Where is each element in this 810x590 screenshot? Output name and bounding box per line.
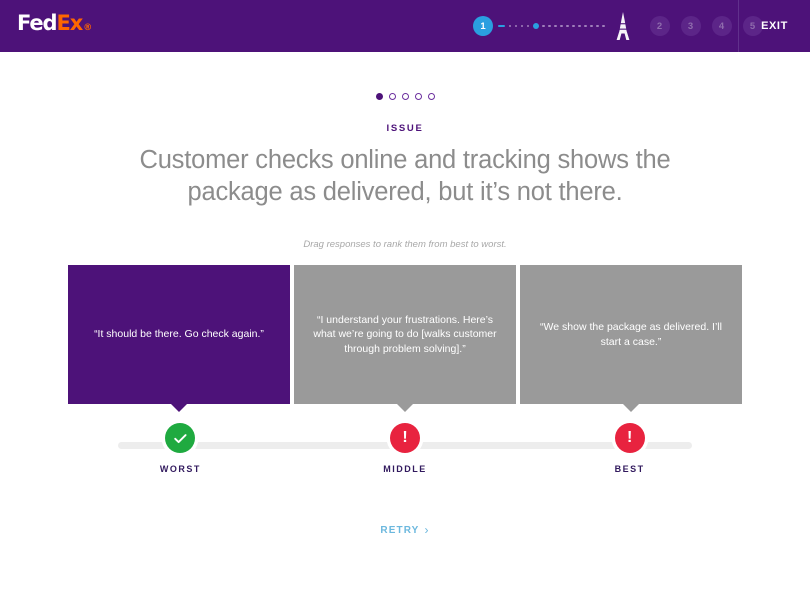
track-dot	[602, 25, 605, 28]
page-dot-5[interactable]	[428, 93, 435, 100]
rank-slot-best[interactable]: ! BEST	[517, 423, 742, 485]
response-cards: “It should be there. Go check again.” “I…	[0, 265, 810, 404]
logo-ex-text: Ex	[56, 11, 82, 35]
retry-button[interactable]: RETRY ›	[380, 523, 429, 537]
card-pointer-icon	[396, 403, 414, 412]
exit-button-label: EXIT	[761, 20, 788, 32]
section-label: ISSUE	[0, 123, 810, 134]
rank-badge-best[interactable]: !	[615, 423, 645, 453]
main-content: ISSUE Customer checks online and trackin…	[0, 93, 810, 590]
exclamation-icon: !	[627, 430, 632, 446]
retry-button-label: RETRY	[380, 525, 419, 536]
track-dot-current	[533, 23, 539, 29]
track-dot	[554, 25, 557, 28]
logo-fed-text: Fed	[17, 11, 56, 35]
step-number-2: 2	[657, 21, 662, 32]
rank-label-middle: MIDDLE	[383, 464, 427, 474]
exclamation-icon: !	[402, 430, 407, 446]
track-dot	[527, 25, 530, 28]
track-dot	[515, 25, 518, 28]
step-number-3: 3	[688, 21, 693, 32]
exit-button[interactable]: EXIT	[739, 0, 810, 52]
track-dot	[521, 25, 524, 28]
page-dot-4[interactable]	[415, 93, 422, 100]
tower-icon	[613, 11, 633, 41]
track-dot	[542, 25, 545, 28]
step-number-1: 1	[480, 21, 485, 32]
track-dot	[560, 25, 563, 28]
logo-registered-mark: ®	[83, 23, 92, 33]
step-indicator-4[interactable]: 4	[712, 16, 732, 36]
track-dot	[509, 25, 512, 28]
response-card-2-text: “I understand your frustrations. Here’s …	[310, 313, 500, 357]
page-dot-3[interactable]	[402, 93, 409, 100]
track-dot	[584, 25, 587, 28]
track-dot	[596, 25, 599, 28]
step-number-4: 4	[719, 21, 724, 32]
track-dot	[548, 25, 551, 28]
rank-label-best: BEST	[615, 464, 645, 474]
response-card-1[interactable]: “It should be there. Go check again.”	[68, 265, 290, 404]
chevron-right-icon: ›	[424, 523, 429, 537]
app-header: FedEx® 1	[0, 0, 810, 52]
track-dash	[498, 25, 505, 28]
step-connector-track	[498, 23, 605, 29]
ranking-track: WORST ! MIDDLE ! BEST	[68, 423, 742, 485]
retry-row: RETRY ›	[0, 523, 810, 537]
rank-badge-middle[interactable]: !	[390, 423, 420, 453]
rank-label-worst: WORST	[160, 464, 201, 474]
drag-instruction: Drag responses to rank them from best to…	[0, 239, 810, 250]
card-pointer-icon	[170, 403, 188, 412]
rank-slot-middle[interactable]: ! MIDDLE	[293, 423, 518, 485]
response-card-3-text: “We show the package as delivered. I’ll …	[536, 320, 726, 349]
page-dot-2[interactable]	[389, 93, 396, 100]
page-title: Customer checks online and tracking show…	[125, 144, 685, 208]
track-dot	[578, 25, 581, 28]
response-card-3[interactable]: “We show the package as delivered. I’ll …	[520, 265, 742, 404]
response-card-2[interactable]: “I understand your frustrations. Here’s …	[294, 265, 516, 404]
rank-badge-worst[interactable]	[165, 423, 195, 453]
track-dot	[590, 25, 593, 28]
response-card-1-text: “It should be there. Go check again.”	[94, 327, 264, 342]
step-indicator-1[interactable]: 1	[473, 16, 493, 36]
rank-slot-worst[interactable]: WORST	[68, 423, 293, 485]
step-indicator-3[interactable]: 3	[681, 16, 701, 36]
page-dot-1[interactable]	[376, 93, 383, 100]
card-pointer-icon	[622, 403, 640, 412]
page-dots	[0, 93, 810, 100]
check-icon	[172, 430, 189, 447]
track-dot	[572, 25, 575, 28]
track-dot	[566, 25, 569, 28]
fedex-logo: FedEx®	[17, 13, 92, 34]
progress-stepper: 1 2	[473, 0, 763, 52]
step-indicator-2[interactable]: 2	[650, 16, 670, 36]
